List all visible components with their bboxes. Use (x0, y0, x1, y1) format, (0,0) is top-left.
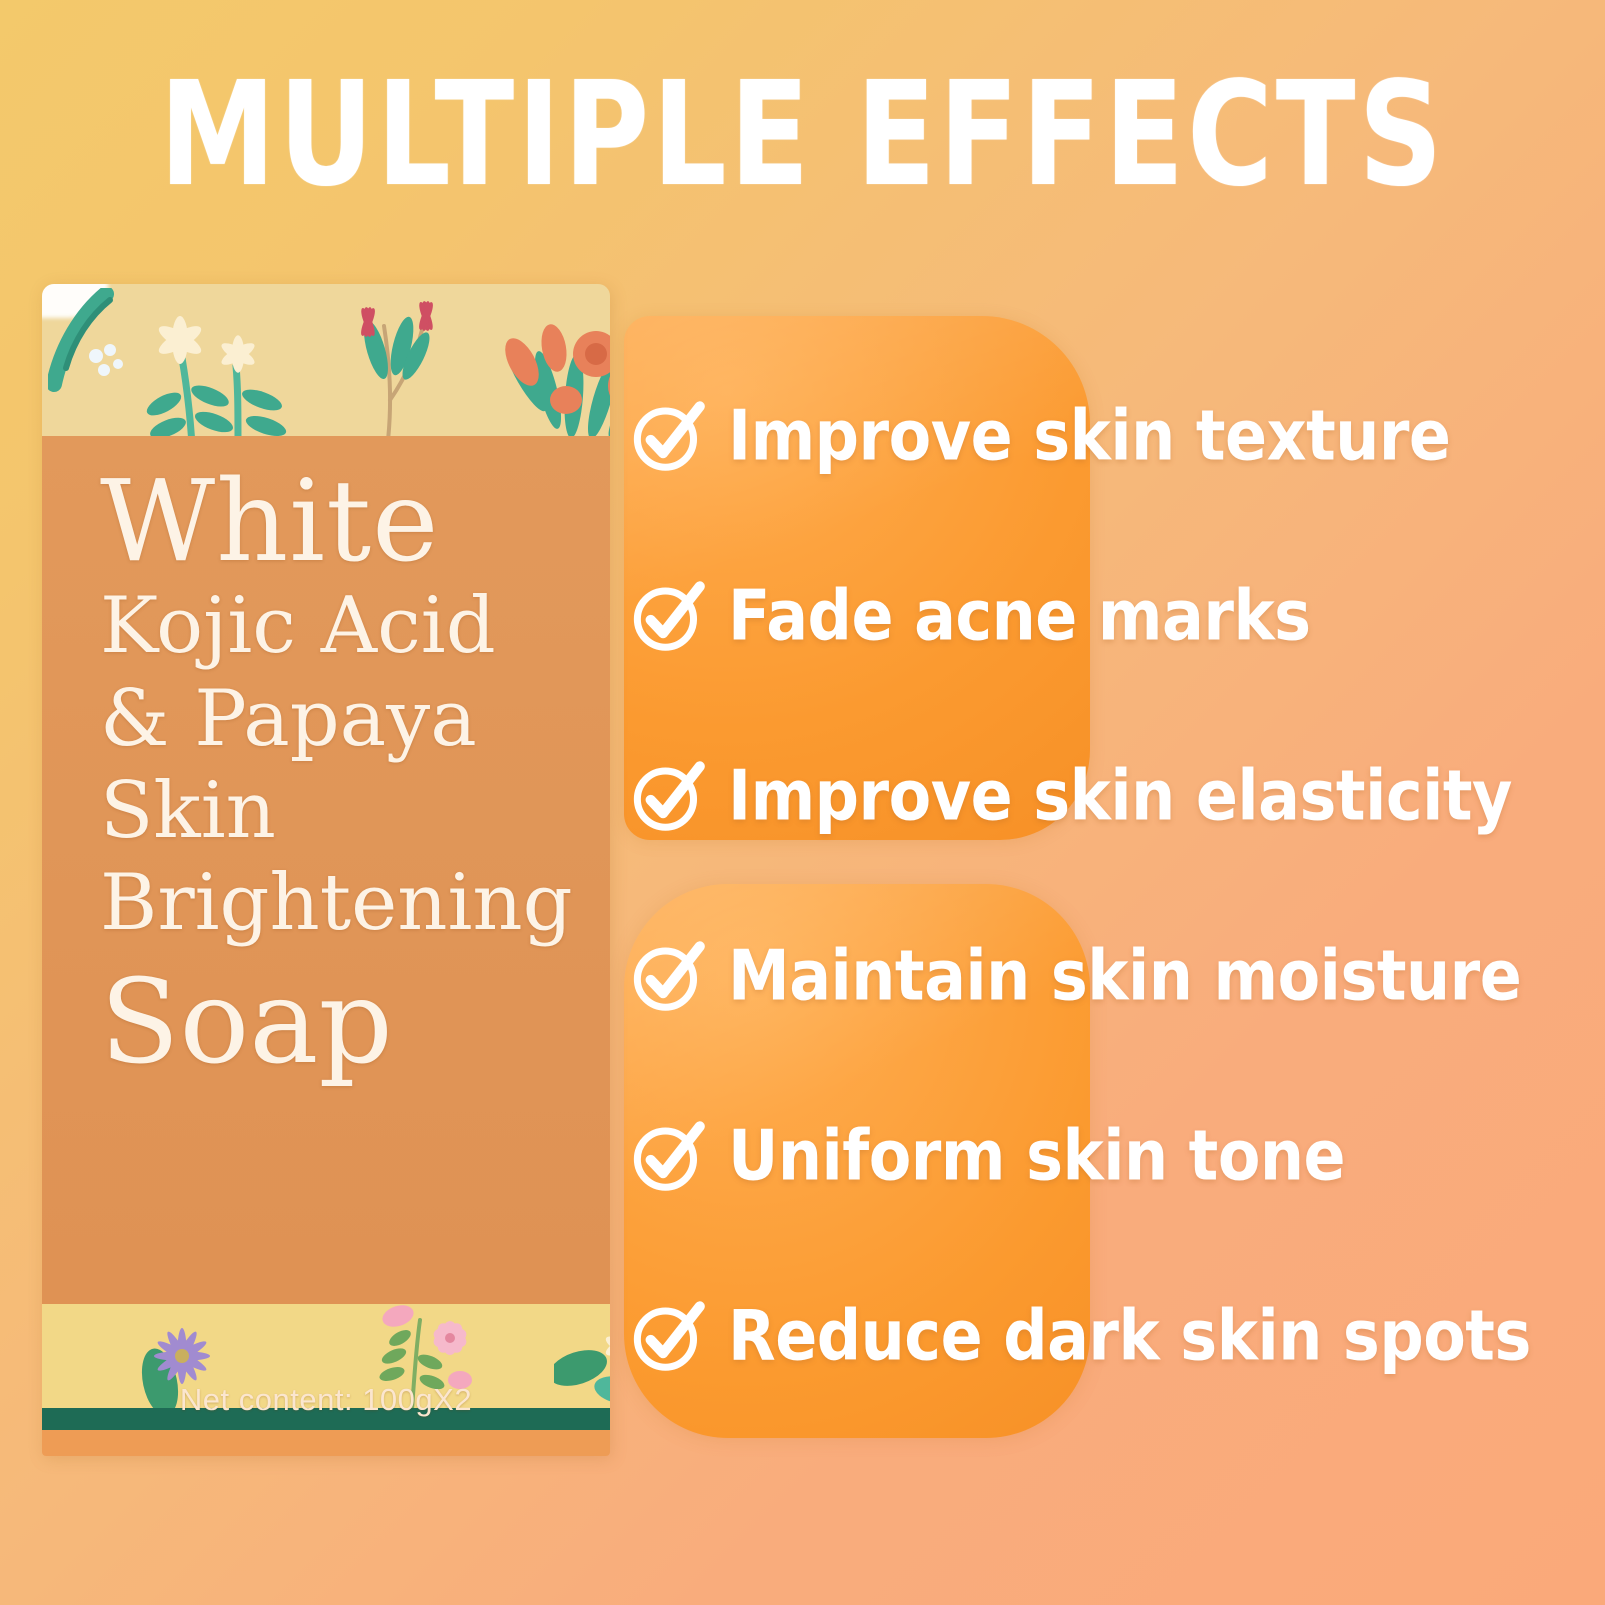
benefit-label: Fade acne marks (728, 581, 1311, 650)
benefit-item: Maintain skin moisture (628, 918, 1588, 1034)
benefit-item: Uniform skin tone (628, 1098, 1588, 1214)
benefits-list: Improve skin texture Fade acne marks Imp… (628, 378, 1588, 1458)
box-top-floral-band (42, 284, 610, 436)
benefit-item: Reduce dark skin spots (628, 1278, 1588, 1394)
page-title: MULTIPLE EFFECTS (8, 62, 1597, 206)
circle-check-icon (628, 397, 706, 475)
benefit-item: Improve skin texture (628, 378, 1588, 494)
circle-check-icon (628, 937, 706, 1015)
box-title-line-2: Kojic Acid (100, 580, 600, 672)
floral-sprig-blue-buds (48, 288, 138, 398)
benefit-label: Uniform skin tone (728, 1121, 1345, 1190)
floral-sprig-pink-flowers (342, 292, 462, 436)
benefit-item: Improve skin elasticity (628, 738, 1588, 854)
circle-check-icon (628, 757, 706, 835)
benefit-label: Improve skin elasticity (728, 761, 1512, 830)
circle-check-icon (628, 577, 706, 655)
net-content-label: Net content: 100gX2 (42, 1382, 610, 1418)
floral-sprig-white-flowers (134, 300, 309, 436)
product-box: White Kojic Acid & Papaya Skin Brighteni… (42, 284, 610, 1456)
benefit-item: Fade acne marks (628, 558, 1588, 674)
box-title-line-1: White (100, 464, 600, 580)
box-footer (42, 1430, 610, 1456)
benefit-label: Maintain skin moisture (728, 941, 1521, 1010)
benefit-label: Improve skin texture (728, 401, 1450, 470)
box-title-line-5: Brightening (100, 857, 600, 949)
box-title-line-3: & Papaya (100, 673, 600, 765)
circle-check-icon (628, 1117, 706, 1195)
benefit-label: Reduce dark skin spots (728, 1301, 1531, 1370)
floral-sprig-orange-carnations (504, 304, 610, 436)
box-title-block: White Kojic Acid & Papaya Skin Brighteni… (100, 464, 600, 1086)
product-benefits-poster: MULTIPLE EFFECTS (0, 0, 1605, 1605)
box-title-line-4: Skin (100, 765, 600, 857)
circle-check-icon (628, 1297, 706, 1375)
box-title-line-6: Soap (100, 959, 600, 1087)
